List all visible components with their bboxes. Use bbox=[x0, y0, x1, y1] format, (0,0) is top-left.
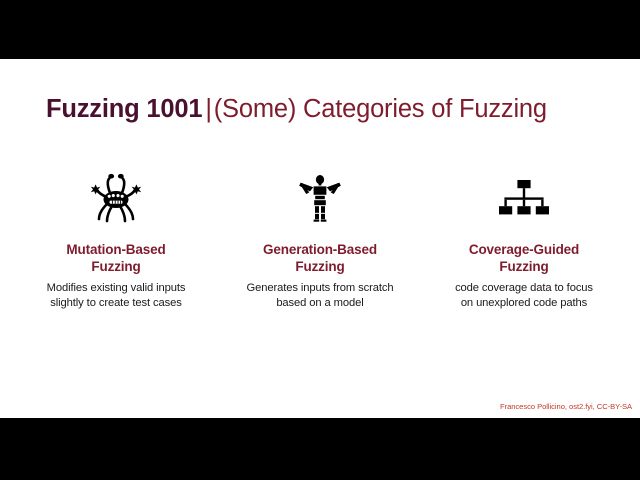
category-heading: Generation-Based Fuzzing bbox=[263, 241, 377, 275]
category-heading-line2: Fuzzing bbox=[295, 259, 344, 274]
bug-creature-icon bbox=[87, 169, 145, 225]
category-description-line1: Generates inputs from scratch bbox=[247, 282, 394, 294]
robot-figure-icon bbox=[291, 169, 349, 225]
category-heading-line1: Coverage-Guided bbox=[469, 242, 579, 257]
slide-frame: Fuzzing 1001|(Some) Categories of Fuzzin… bbox=[0, 0, 640, 480]
category-description: Modifies existing valid inputs slightly … bbox=[47, 281, 186, 311]
page-title-rest: (Some) Categories of Fuzzing bbox=[214, 95, 547, 123]
letterbox-bar-top bbox=[0, 0, 640, 59]
category-description: code coverage data to focus on unexplore… bbox=[455, 281, 593, 311]
category-column-coverage-guided: Coverage-Guided Fuzzing code coverage da… bbox=[422, 169, 626, 311]
category-column-mutation-based: Mutation-Based Fuzzing Modifies existing… bbox=[14, 169, 218, 311]
category-column-generation-based: Generation-Based Fuzzing Generates input… bbox=[218, 169, 422, 311]
category-description-line1: code coverage data to focus bbox=[455, 282, 593, 294]
letterbox-bar-bottom bbox=[0, 418, 640, 480]
page-title-separator: | bbox=[202, 95, 213, 123]
category-heading-line2: Fuzzing bbox=[91, 259, 140, 274]
page-title-strong: Fuzzing 1001 bbox=[46, 95, 202, 123]
category-heading-line1: Generation-Based bbox=[263, 242, 377, 257]
category-description-line2: based on a model bbox=[276, 297, 363, 309]
category-columns: Mutation-Based Fuzzing Modifies existing… bbox=[14, 169, 626, 311]
category-heading-line1: Mutation-Based bbox=[66, 242, 165, 257]
category-heading: Mutation-Based Fuzzing bbox=[66, 241, 165, 275]
attribution-credit: Francesco Pollicino, ost2.fyi, CC-BY-SA bbox=[500, 402, 632, 411]
category-description: Generates inputs from scratch based on a… bbox=[247, 281, 394, 311]
category-heading: Coverage-Guided Fuzzing bbox=[469, 241, 579, 275]
category-description-line1: Modifies existing valid inputs bbox=[47, 282, 186, 294]
hierarchy-tree-icon bbox=[495, 169, 553, 225]
category-heading-line2: Fuzzing bbox=[499, 259, 548, 274]
slide-canvas: Fuzzing 1001|(Some) Categories of Fuzzin… bbox=[0, 59, 640, 418]
category-description-line2: on unexplored code paths bbox=[461, 297, 587, 309]
page-title: Fuzzing 1001|(Some) Categories of Fuzzin… bbox=[46, 95, 547, 124]
category-description-line2: slightly to create test cases bbox=[50, 297, 181, 309]
